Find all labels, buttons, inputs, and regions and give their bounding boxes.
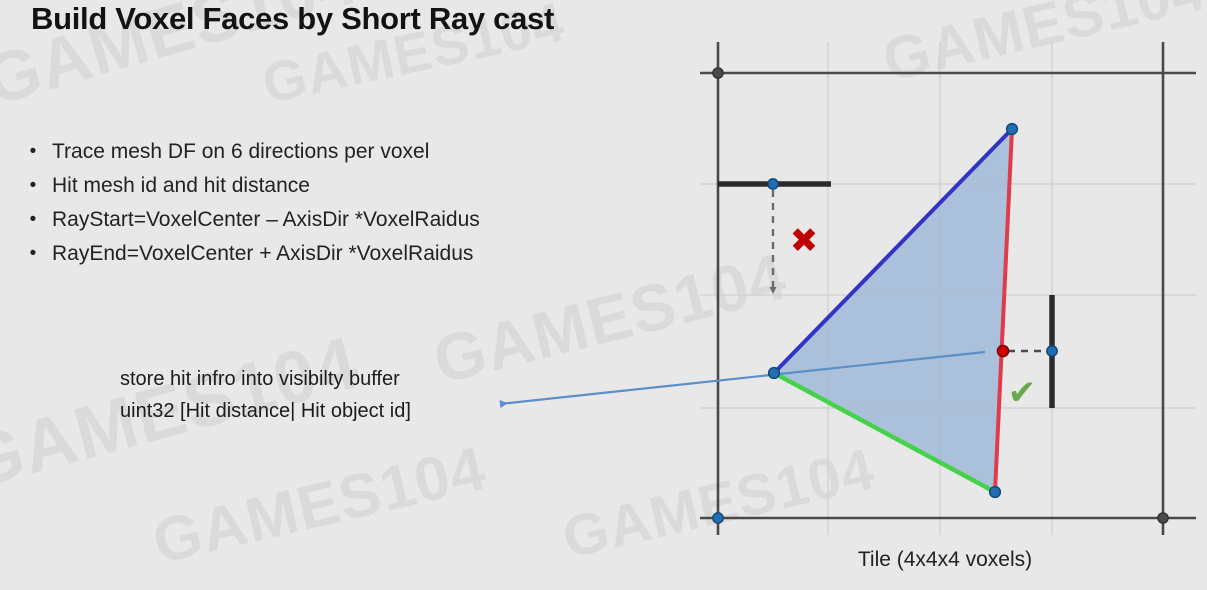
- annotation-line-1: store hit infro into visibilty buffer: [120, 363, 411, 395]
- triangle-vertex-dot: [769, 368, 780, 379]
- bullet-marker-icon: •: [14, 204, 52, 236]
- bullet-marker-icon: •: [14, 170, 52, 202]
- visibility-buffer-annotation: store hit infro into visibilty buffer ui…: [120, 363, 411, 427]
- list-item: • RayStart=VoxelCenter – AxisDir *VoxelR…: [14, 204, 654, 236]
- triangle-edge-blue: [774, 129, 1012, 373]
- list-item: • Hit mesh id and hit distance: [14, 170, 654, 202]
- tile-corner-dot: [713, 68, 723, 78]
- cross-icon: ✖: [790, 221, 819, 261]
- list-item-label: RayEnd=VoxelCenter + AxisDir *VoxelRaidu…: [52, 238, 654, 270]
- ray-start-dot: [768, 179, 778, 189]
- tile-border: [700, 42, 1196, 535]
- triangle-vertex-dot: [990, 487, 1001, 498]
- ray-end-dot: [1047, 346, 1057, 356]
- visibility-buffer-callout-arrow: [500, 352, 985, 404]
- tile-corner-dot: [713, 513, 723, 523]
- triangle-edge-red: [995, 129, 1012, 492]
- voxel-tile-diagram: ✖ ✔: [0, 0, 1207, 590]
- vertex-dots: [713, 68, 1168, 523]
- list-item-label: RayStart=VoxelCenter – AxisDir *VoxelRai…: [52, 204, 654, 236]
- voxel-grid: [700, 42, 1196, 535]
- check-icon: ✔: [1008, 373, 1037, 413]
- annotation-line-2: uint32 [Hit distance| Hit object id]: [120, 395, 411, 427]
- list-item-label: Hit mesh id and hit distance: [52, 170, 654, 202]
- bullet-marker-icon: •: [14, 238, 52, 270]
- bullet-list: • Trace mesh DF on 6 directions per voxe…: [14, 136, 654, 272]
- bullet-marker-icon: •: [14, 136, 52, 168]
- hit-point-dot: [997, 345, 1008, 356]
- triangle-vertex-dot: [1007, 124, 1018, 135]
- list-item-label: Trace mesh DF on 6 directions per voxel: [52, 136, 654, 168]
- page-title: Build Voxel Faces by Short Ray cast: [31, 1, 554, 37]
- list-item: • RayEnd=VoxelCenter + AxisDir *VoxelRai…: [14, 238, 654, 270]
- tile-corner-dot: [1158, 513, 1168, 523]
- tile-caption: Tile (4x4x4 voxels): [690, 548, 1200, 572]
- triangle-edge-green: [774, 373, 995, 492]
- list-item: • Trace mesh DF on 6 directions per voxe…: [14, 136, 654, 168]
- mesh-triangle: [774, 129, 1012, 492]
